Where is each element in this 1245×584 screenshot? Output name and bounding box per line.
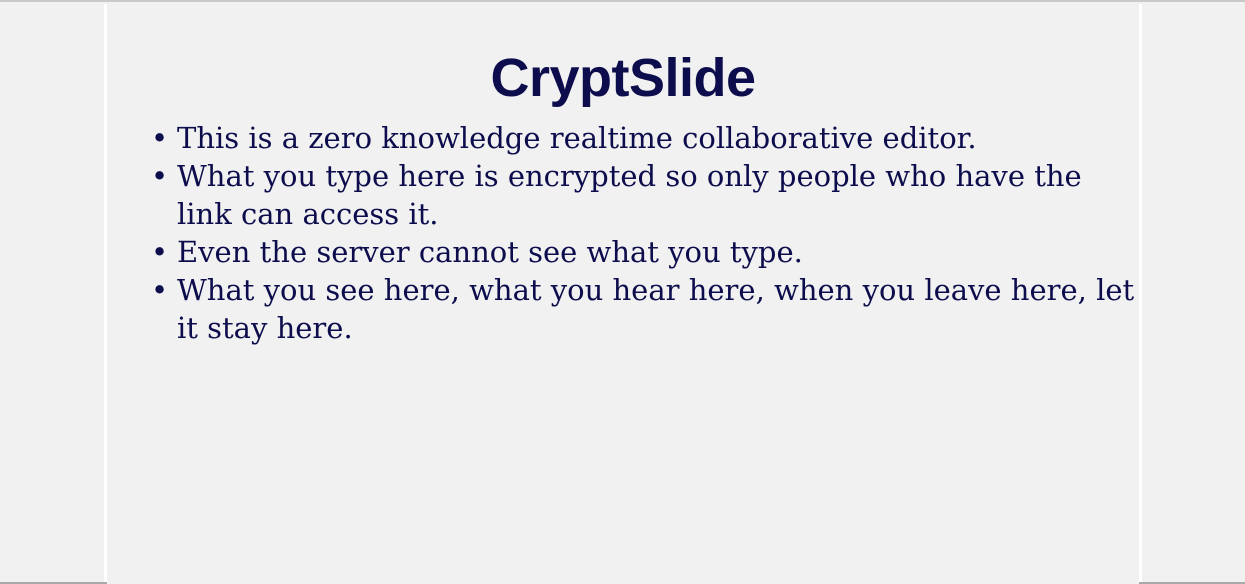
- list-item-text: Even the server cannot see what you type…: [177, 233, 1139, 271]
- list-item: • This is a zero knowledge realtime coll…: [107, 119, 1139, 157]
- slide-right-divider: [1139, 4, 1142, 582]
- bullet-point-icon: •: [151, 271, 165, 309]
- slide-body[interactable]: • This is a zero knowledge realtime coll…: [107, 119, 1139, 347]
- list-item: • What you type here is encrypted so onl…: [107, 157, 1139, 233]
- bullet-list: • This is a zero knowledge realtime coll…: [107, 119, 1139, 347]
- list-item-text: What you type here is encrypted so only …: [177, 157, 1139, 233]
- slide-stage: CryptSlide • This is a zero knowledge re…: [0, 0, 1245, 584]
- list-item: • Even the server cannot see what you ty…: [107, 233, 1139, 271]
- bullet-point-icon: •: [151, 119, 165, 157]
- list-item-text: What you see here, what you hear here, w…: [177, 271, 1139, 347]
- slide-title: CryptSlide: [107, 46, 1139, 110]
- bullet-point-icon: •: [151, 157, 165, 195]
- slide-panel[interactable]: CryptSlide • This is a zero knowledge re…: [107, 4, 1139, 584]
- list-item-text: This is a zero knowledge realtime collab…: [177, 119, 1139, 157]
- bullet-point-icon: •: [151, 233, 165, 271]
- list-item: • What you see here, what you hear here,…: [107, 271, 1139, 347]
